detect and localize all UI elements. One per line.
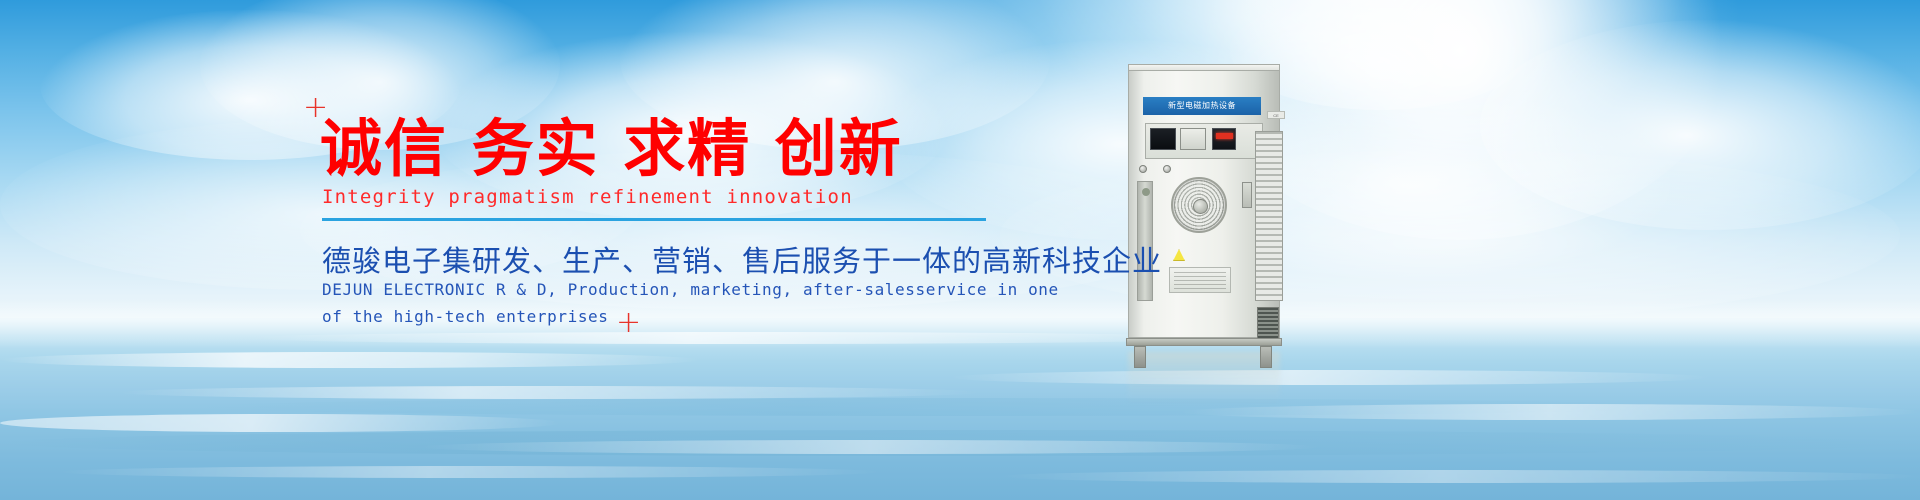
banner-subheading-english: DEJUN ELECTRONIC R & D, Production, mark… (322, 276, 1059, 330)
promo-banner: 新型电磁加热设备 CE + 诚信 务实 求精 创新 Integrity p (0, 0, 1920, 500)
banner-divider (322, 218, 986, 221)
banner-headline: 诚信 务实 求精 创新 (320, 118, 903, 180)
banner-subheading-chinese: 德骏电子集研发、生产、营销、售后服务于一体的高新科技企业 (322, 238, 1162, 280)
banner-text-content: + 诚信 务实 求精 创新 Integrity pragmatism refin… (0, 0, 1920, 500)
banner-tagline-english: Integrity pragmatism refinement innovati… (322, 186, 853, 208)
plus-decoration-icon: + (616, 305, 641, 340)
